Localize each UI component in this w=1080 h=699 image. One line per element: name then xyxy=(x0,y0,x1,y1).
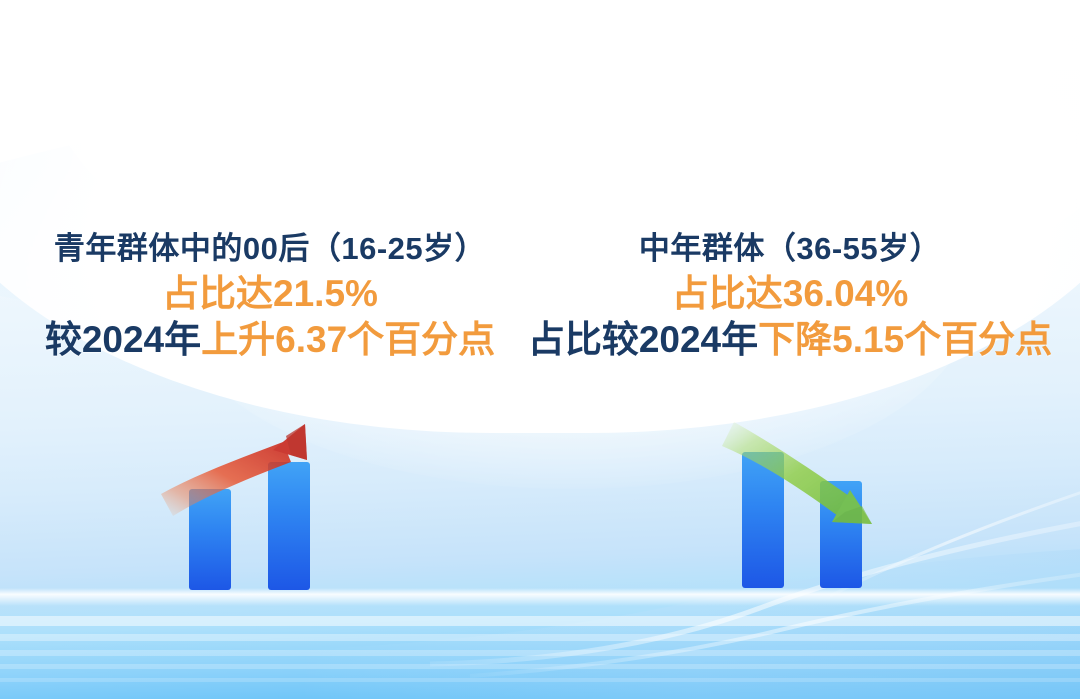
right-change-value: 下降5.15个百分点 xyxy=(758,319,1052,360)
water-band-4 xyxy=(0,650,1080,656)
left-group-label: 青年群体中的00后（16-25岁） xyxy=(0,232,540,267)
left-change-value: 上升6.37个百分点 xyxy=(201,319,495,360)
left-icon-bar-short xyxy=(189,489,231,590)
water-band-6 xyxy=(0,678,1080,682)
water-band-3 xyxy=(0,634,1080,641)
infographic-canvas: 青年群体中的00后（16-25岁） 占比达21.5% 较2024年上升6.37个… xyxy=(0,0,1080,699)
right-group-label: 中年群体（36-55岁） xyxy=(520,232,1060,267)
right-change-line: 占比较2024年下降5.15个百分点 xyxy=(520,319,1060,360)
rising-bar-chart-icon xyxy=(155,412,355,612)
left-share-value: 占比达21.5% xyxy=(0,273,540,314)
left-stat-block: 青年群体中的00后（16-25岁） 占比达21.5% 较2024年上升6.37个… xyxy=(0,232,540,361)
water-band-2 xyxy=(0,616,1080,626)
wave-top-white xyxy=(0,0,1080,168)
right-stat-block: 中年群体（36-55岁） 占比达36.04% 占比较2024年下降5.15个百分… xyxy=(520,232,1060,361)
falling-bar-chart-icon xyxy=(712,412,912,612)
left-change-prefix: 较2024年 xyxy=(45,319,201,360)
left-change-line: 较2024年上升6.37个百分点 xyxy=(0,319,540,360)
right-change-prefix: 占比较2024年 xyxy=(528,319,758,360)
left-icon-bar-tall xyxy=(268,462,310,590)
right-share-value: 占比达36.04% xyxy=(520,273,1060,314)
water-band-5 xyxy=(0,664,1080,669)
